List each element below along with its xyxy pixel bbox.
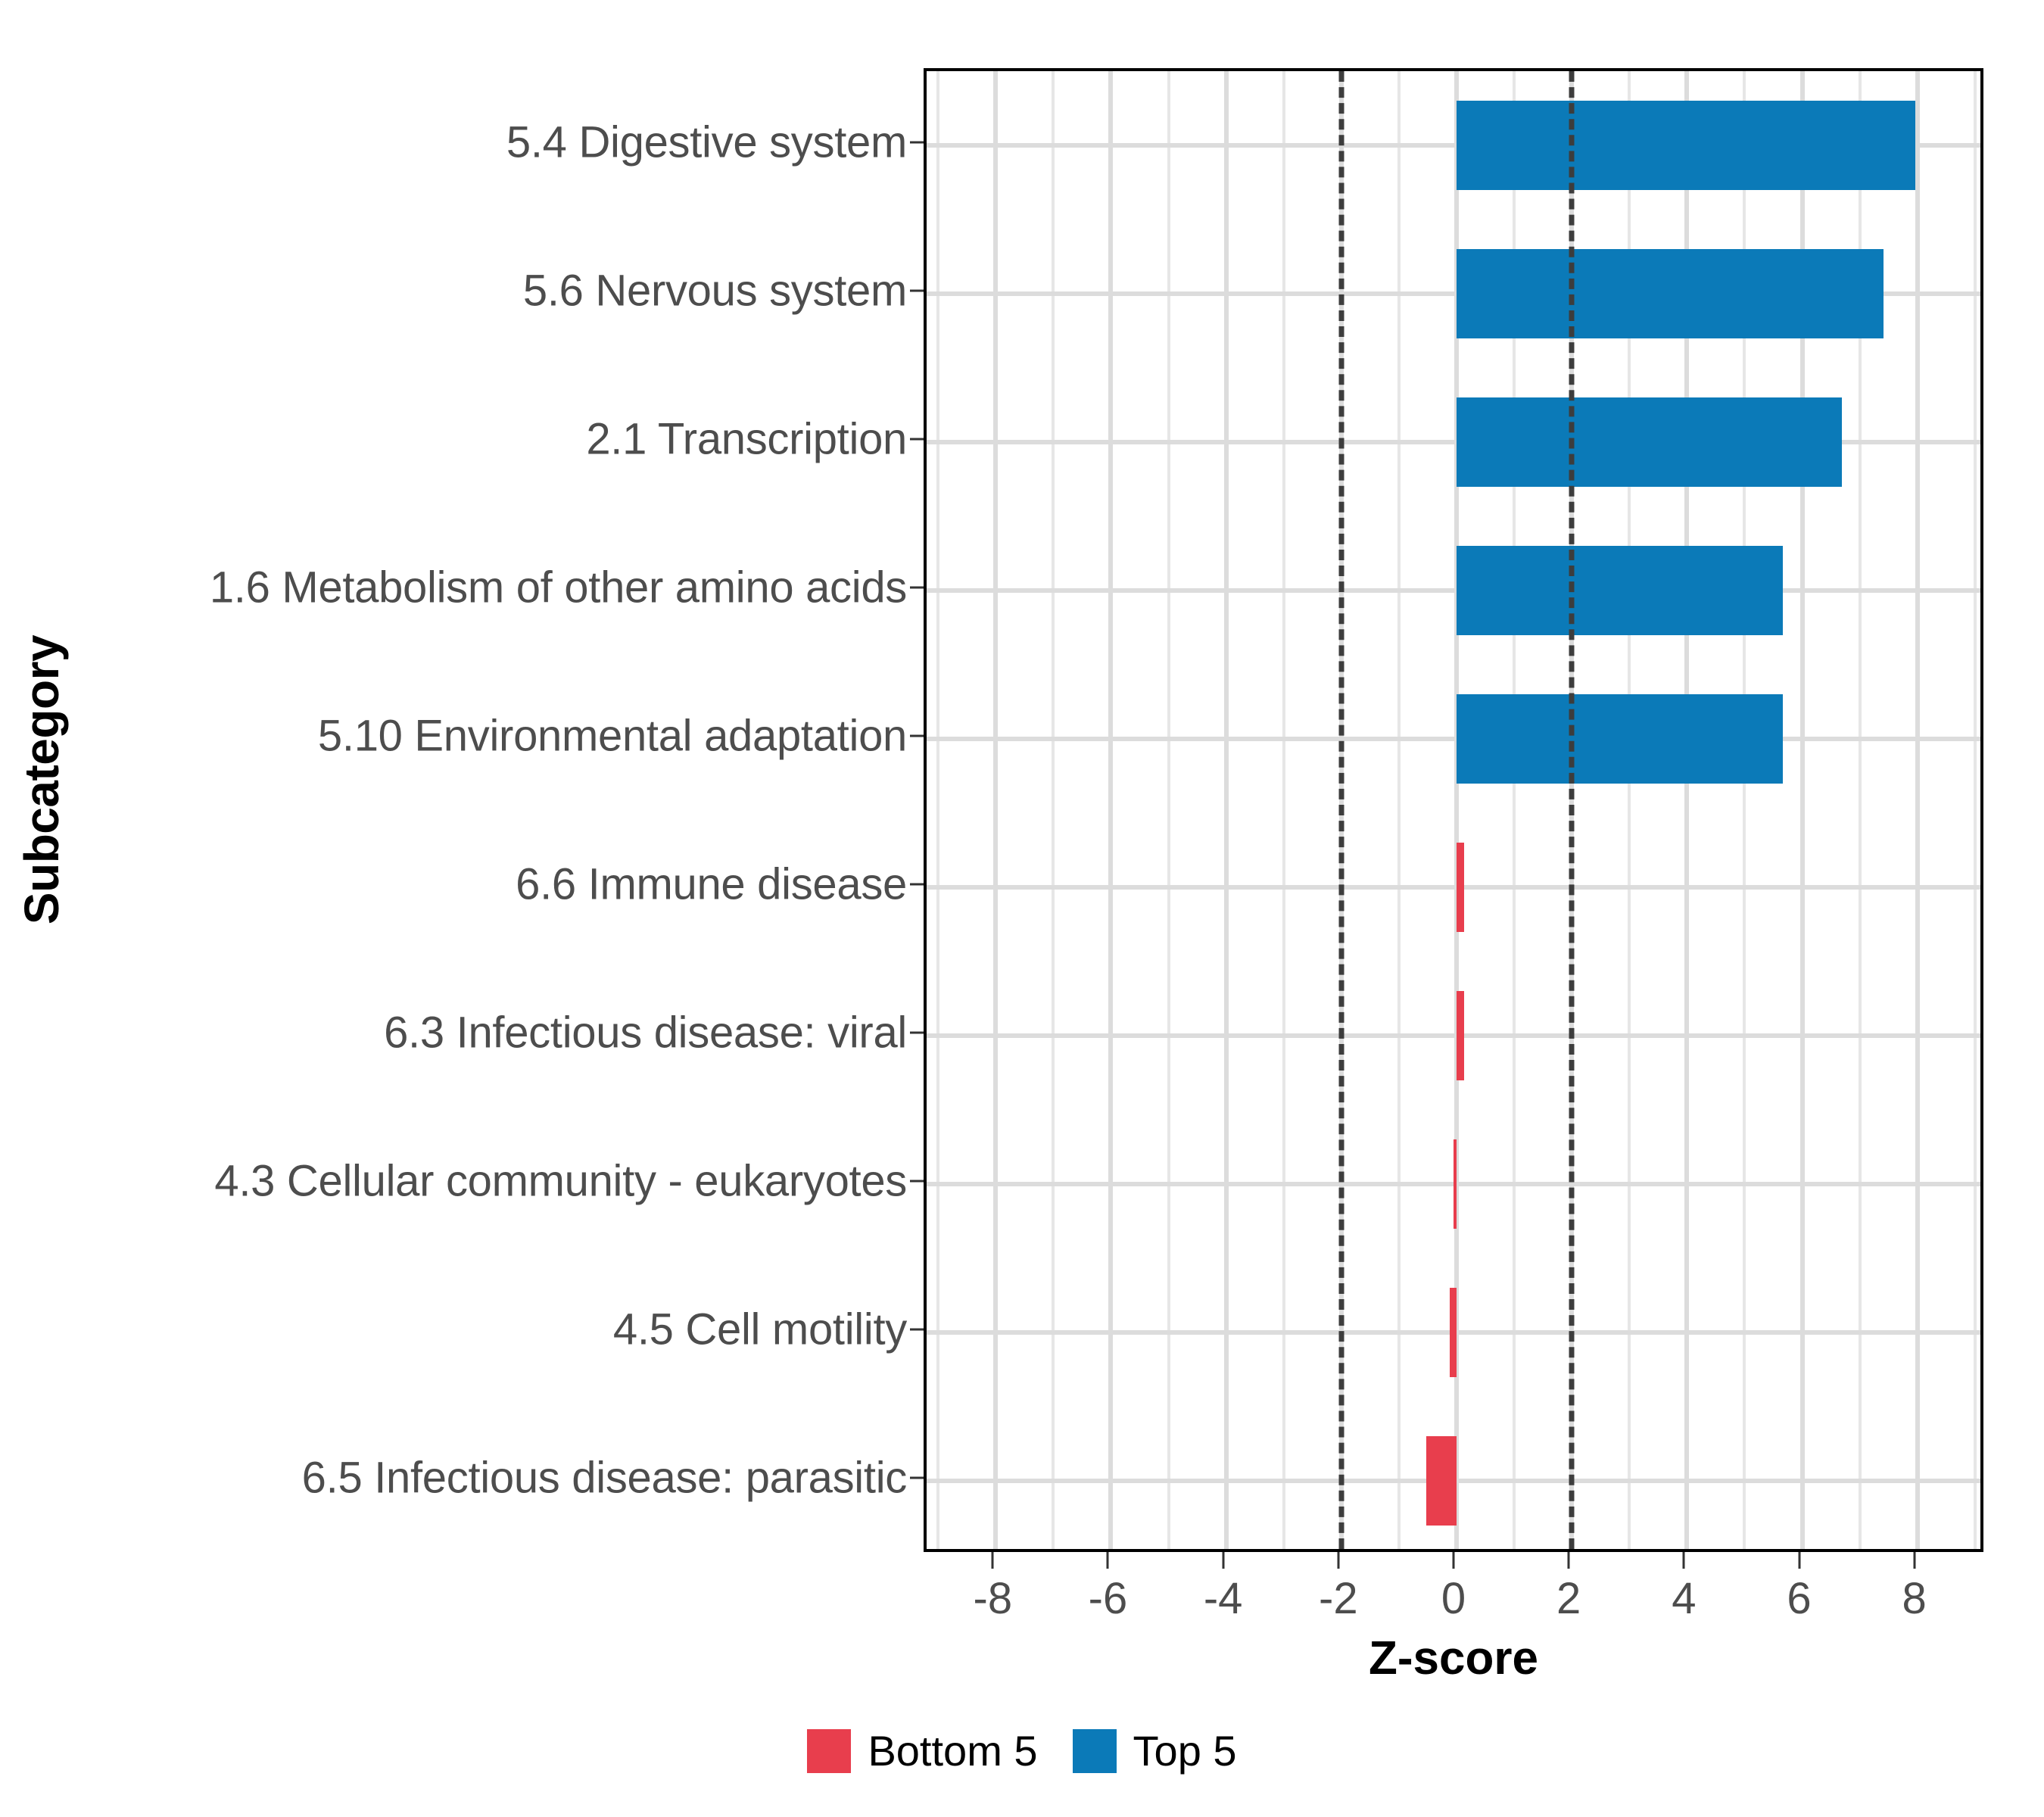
bar[interactable] <box>1457 843 1464 932</box>
x-axis-tick-label: -4 <box>1204 1573 1243 1624</box>
y-axis-tick-label: 2.1 Transcription <box>82 414 907 465</box>
x-axis-tick-mark <box>1913 1552 1915 1569</box>
gridline-horizontal <box>927 588 1980 593</box>
y-axis-tick-mark <box>910 1032 924 1034</box>
legend-label: Top 5 <box>1133 1726 1237 1775</box>
y-axis-tick-label: 6.6 Immune disease <box>82 859 907 910</box>
y-axis-tick-label: 4.3 Cellular community - eukaryotes <box>82 1156 907 1207</box>
x-axis-tick-label: -6 <box>1089 1573 1128 1624</box>
bar[interactable] <box>1457 101 1915 190</box>
legend-item[interactable]: Top 5 <box>1073 1726 1237 1775</box>
y-axis-tick-label: 5.4 Digestive system <box>82 117 907 168</box>
chart-legend: Bottom 5Top 5 <box>0 1726 2044 1775</box>
y-axis-title: Subcategory <box>0 0 83 1560</box>
y-axis-tick-label: 4.5 Cell motility <box>82 1304 907 1355</box>
legend-label: Bottom 5 <box>868 1726 1037 1775</box>
y-axis-tick-label: 6.5 Infectious disease: parasitic <box>82 1453 907 1504</box>
legend-swatch <box>807 1729 851 1773</box>
y-axis-tick-mark <box>910 735 924 737</box>
x-axis-tick-mark <box>1683 1552 1685 1569</box>
x-axis-tick-mark <box>1222 1552 1224 1569</box>
y-axis-tick-mark <box>910 438 924 441</box>
x-axis-tick-label: 2 <box>1556 1573 1581 1624</box>
x-axis-tick-label: 8 <box>1902 1573 1927 1624</box>
y-axis-tick-mark <box>910 1180 924 1183</box>
x-axis-tick-label: 4 <box>1672 1573 1696 1624</box>
y-axis-tick-mark <box>910 884 924 886</box>
y-axis-tick-mark <box>910 1329 924 1331</box>
bar[interactable] <box>1457 694 1783 784</box>
x-axis-tick-mark <box>1798 1552 1800 1569</box>
y-axis-tick-label: 5.6 Nervous system <box>82 266 907 316</box>
bar[interactable] <box>1450 1288 1457 1377</box>
threshold-line-pos2 <box>1569 71 1575 1549</box>
bar[interactable] <box>1457 249 1884 338</box>
x-axis-title: Z-score <box>924 1632 1983 1685</box>
bar[interactable] <box>1426 1436 1457 1526</box>
x-axis-tick-label: -2 <box>1319 1573 1358 1624</box>
gridline-horizontal <box>927 1033 1980 1038</box>
x-axis-tick-mark <box>992 1552 994 1569</box>
y-axis-tick-label: 1.6 Metabolism of other amino acids <box>82 563 907 613</box>
y-axis-tick-mark <box>910 587 924 589</box>
x-axis-tick-label: 0 <box>1441 1573 1466 1624</box>
y-axis-title-text: Subcategory <box>14 635 70 924</box>
y-axis-tick-label: 5.10 Environmental adaptation <box>82 711 907 762</box>
gridline-horizontal <box>927 737 1980 741</box>
x-axis-tick-mark <box>1568 1552 1570 1569</box>
x-axis-tick-mark <box>1453 1552 1455 1569</box>
bar[interactable] <box>1457 546 1783 635</box>
chart-figure: Subcategory 5.4 Digestive system5.6 Nerv… <box>0 0 2044 1817</box>
bar[interactable] <box>1454 1139 1457 1229</box>
threshold-line-neg2 <box>1338 71 1344 1549</box>
y-axis-tick-mark <box>910 142 924 144</box>
y-axis-tick-labels: 5.4 Digestive system5.6 Nervous system2.… <box>83 68 924 1552</box>
gridline-horizontal <box>927 885 1980 890</box>
x-axis-tick-mark <box>1107 1552 1109 1569</box>
plot-panel <box>924 68 1983 1552</box>
legend-swatch <box>1073 1729 1117 1773</box>
y-axis-tick-label: 6.3 Infectious disease: viral <box>82 1008 907 1058</box>
y-axis-tick-mark <box>910 290 924 292</box>
legend-item[interactable]: Bottom 5 <box>807 1726 1037 1775</box>
x-axis-tick-label: -8 <box>974 1573 1013 1624</box>
x-axis-tick-label: 6 <box>1787 1573 1811 1624</box>
bar[interactable] <box>1457 397 1842 487</box>
x-axis-tick-mark <box>1337 1552 1339 1569</box>
y-axis-tick-mark <box>910 1477 924 1479</box>
bar[interactable] <box>1457 991 1464 1080</box>
